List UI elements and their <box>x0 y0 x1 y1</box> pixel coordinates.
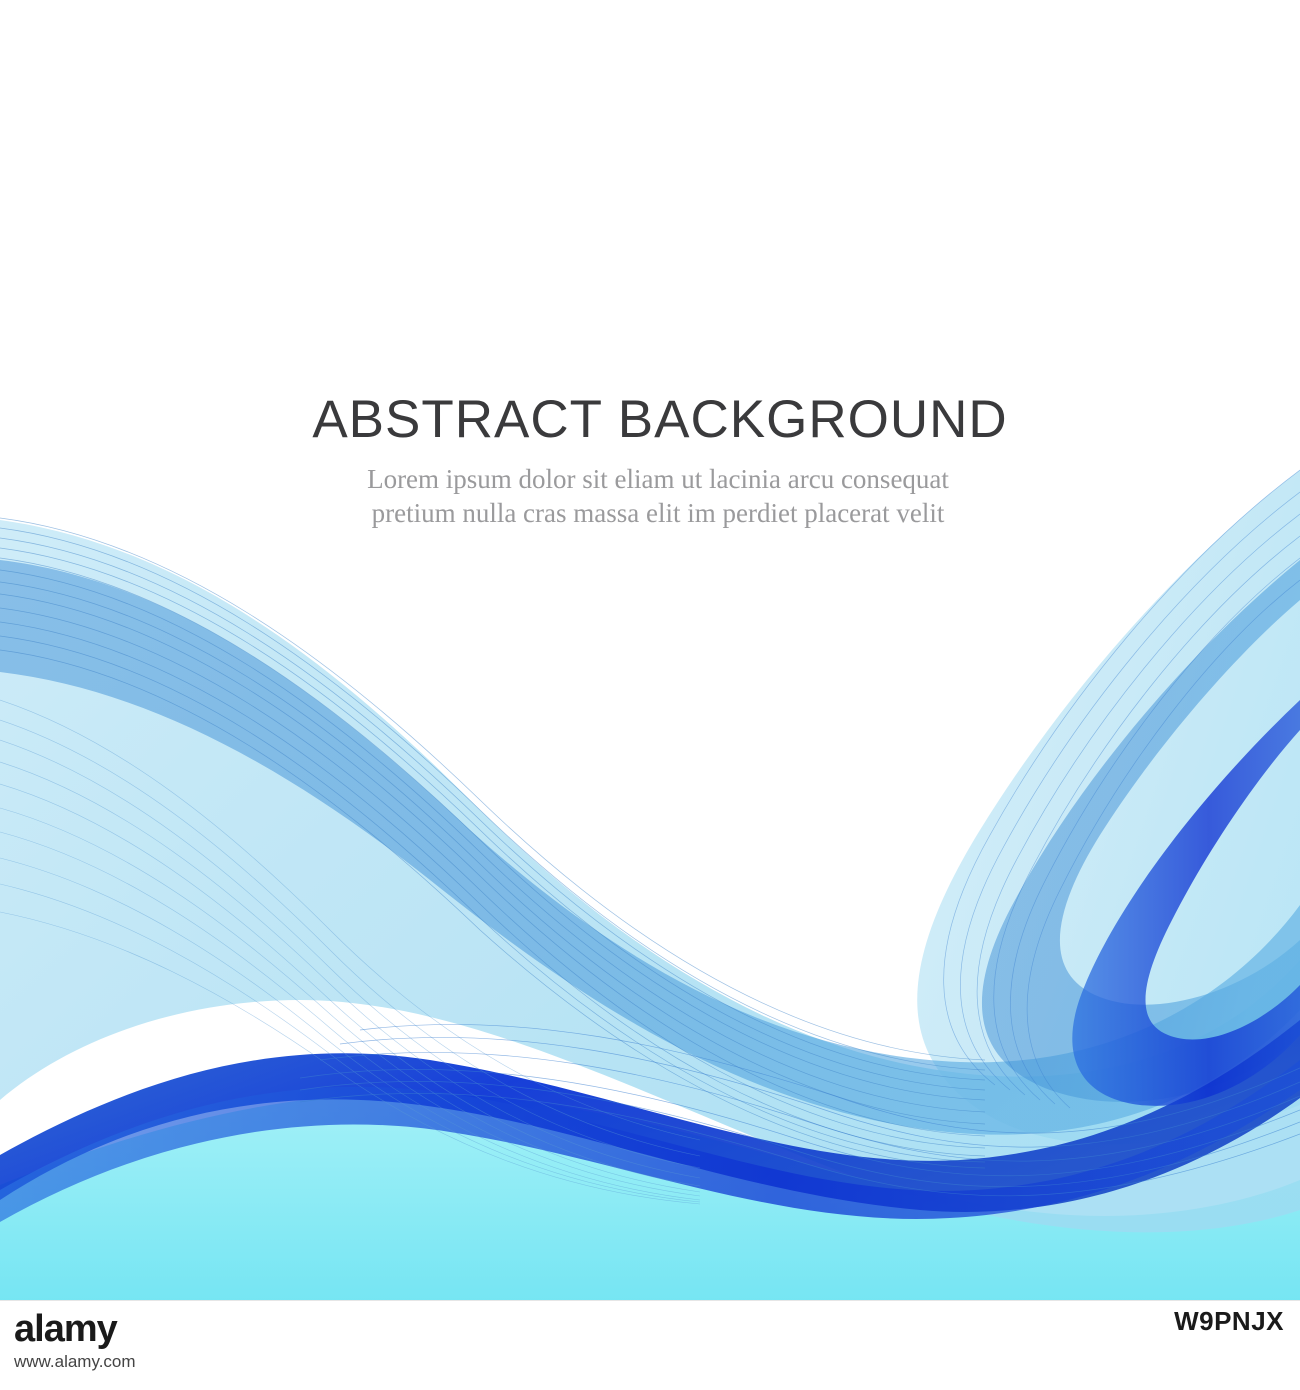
screenshot-root: ABSTRACT BACKGROUND Lorem ipsum dolor si… <box>0 0 1300 1390</box>
alamy-logo: alamy <box>14 1308 117 1351</box>
abstract-artwork: ABSTRACT BACKGROUND Lorem ipsum dolor si… <box>0 0 1300 1300</box>
wave-graphic <box>0 0 1300 1300</box>
alamy-url: www.alamy.com <box>14 1352 136 1372</box>
image-id-label: W9PNJX <box>1174 1306 1284 1337</box>
watermark-bar <box>0 1300 1300 1390</box>
